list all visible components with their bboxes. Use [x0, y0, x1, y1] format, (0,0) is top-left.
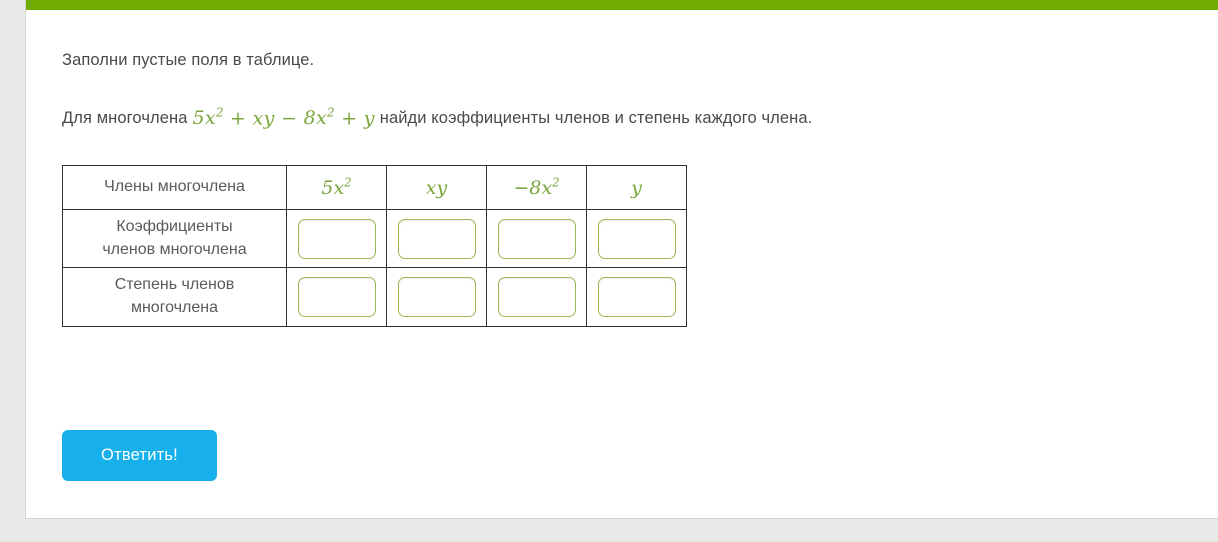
row-label-coefficients-cell: Коэффициенты членов многочлена [63, 210, 287, 268]
exercise-card: Заполни пустые поля в таблице. Для много… [25, 0, 1218, 519]
instruction-text: Заполни пустые поля в таблице. [62, 51, 314, 70]
row-label-degrees-line1: Степень членов [115, 276, 235, 293]
degree-input-3[interactable] [498, 277, 576, 317]
term-label-2: xy [426, 177, 447, 199]
degree-cell-2 [387, 268, 487, 326]
table-header-label-cell: Члены многочлена [63, 166, 287, 210]
polynomial-table: Члены многочлена 5x2 xy −8x2 y [62, 165, 687, 327]
table-row-degrees: Степень членов многочлена [63, 268, 687, 326]
row-label-coefficients-line2: членов многочлена [102, 241, 246, 258]
poly-term-4: y [364, 107, 375, 129]
term-label-1: 5x2 [321, 177, 351, 199]
submit-answer-button[interactable]: Ответить! [62, 430, 217, 481]
term-cell-3: −8x2 [487, 166, 587, 210]
coefficient-cell-2 [387, 210, 487, 268]
poly-term-3: 8x2 [304, 107, 335, 129]
coefficient-cell-3 [487, 210, 587, 268]
degree-cell-1 [287, 268, 387, 326]
row-label-degrees-cell: Степень членов многочлена [63, 268, 287, 326]
degree-input-4[interactable] [598, 277, 676, 317]
card-body: Заполни пустые поля в таблице. Для много… [26, 10, 1218, 518]
poly-term-2: xy [253, 107, 275, 129]
term-cell-1: 5x2 [287, 166, 387, 210]
coefficient-input-4[interactable] [598, 219, 676, 259]
poly-op-plus-2: + [335, 107, 364, 129]
page-root: Заполни пустые поля в таблице. Для много… [0, 0, 1218, 542]
table-header-row: Члены многочлена 5x2 xy −8x2 y [63, 166, 687, 210]
term-label-3: −8x2 [513, 177, 559, 199]
poly-op-minus: − [275, 107, 304, 129]
poly-term-1: 5x2 [193, 107, 224, 129]
degree-input-1[interactable] [298, 277, 376, 317]
term-cell-2: xy [387, 166, 487, 210]
task-prompt: Для многочлена5x2 + xy − 8x2 + yнайди ко… [62, 108, 812, 128]
coefficient-input-3[interactable] [498, 219, 576, 259]
degree-cell-4 [587, 268, 687, 326]
task-prompt-suffix: найди коэффициенты членов и степень кажд… [380, 109, 813, 127]
coefficient-input-2[interactable] [398, 219, 476, 259]
table-header-label: Члены многочлена [104, 178, 245, 195]
task-prompt-prefix: Для многочлена [62, 109, 188, 127]
row-label-coefficients-line1: Коэффициенты [116, 218, 232, 235]
term-label-4: y [631, 177, 642, 199]
coefficient-cell-1 [287, 210, 387, 268]
term-cell-4: y [587, 166, 687, 210]
degree-cell-3 [487, 268, 587, 326]
degree-input-2[interactable] [398, 277, 476, 317]
polynomial-expression: 5x2 + xy − 8x2 + y [193, 108, 375, 128]
row-label-degrees-line2: многочлена [131, 299, 218, 316]
coefficient-cell-4 [587, 210, 687, 268]
coefficient-input-1[interactable] [298, 219, 376, 259]
table-row-coefficients: Коэффициенты членов многочлена [63, 210, 687, 268]
poly-op-plus-1: + [224, 107, 253, 129]
top-accent-bar [26, 0, 1218, 10]
